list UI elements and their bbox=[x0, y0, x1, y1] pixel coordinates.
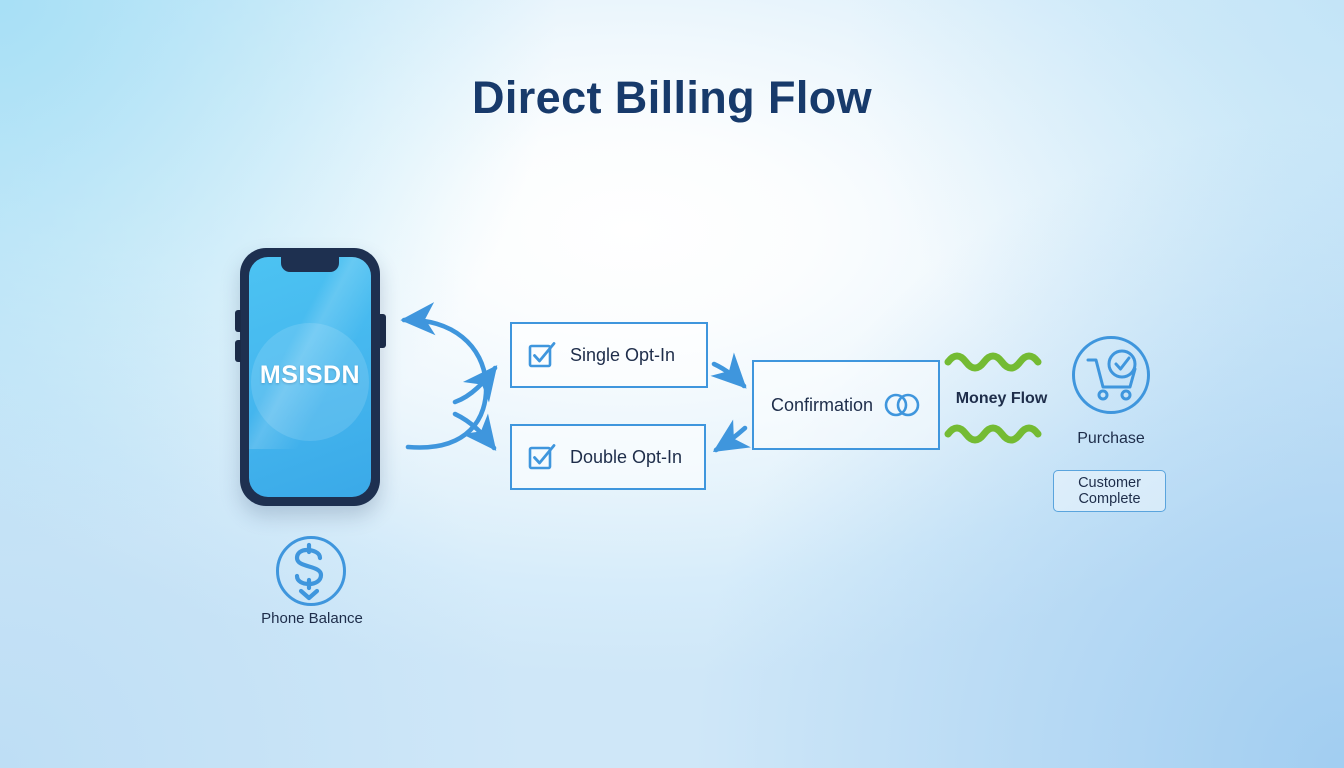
double-optin-box[interactable]: Double Opt-In bbox=[510, 424, 706, 490]
screen-sheen-decoration bbox=[249, 257, 371, 449]
confirmation-to-double-optin bbox=[716, 428, 745, 450]
arc-to-double-optin bbox=[455, 414, 494, 448]
confirmation-label: Confirmation bbox=[771, 395, 873, 416]
customer-complete-line2: Complete bbox=[1078, 491, 1141, 507]
phone-notch bbox=[281, 257, 339, 272]
power-button[interactable] bbox=[380, 314, 386, 348]
checkbox-checked-icon bbox=[528, 443, 556, 471]
page-title: Direct Billing Flow bbox=[0, 72, 1344, 124]
checkbox-checked-icon bbox=[528, 341, 556, 369]
volume-down-button[interactable] bbox=[235, 340, 241, 362]
single-optin-box[interactable]: Single Opt-In bbox=[510, 322, 708, 388]
phone-frame: MSISDN bbox=[240, 248, 380, 506]
dollar-down-circle-icon bbox=[276, 536, 346, 606]
single-optin-to-confirmation bbox=[714, 364, 744, 386]
diagram-canvas: Direct Billing Flow MSISDN bbox=[0, 0, 1344, 768]
arc-to-single-optin bbox=[455, 368, 495, 402]
double-optin-label: Double Opt-In bbox=[570, 447, 682, 468]
shopping-cart-check-circle-icon bbox=[1072, 336, 1150, 414]
phone-loop-arc bbox=[404, 320, 486, 448]
customer-complete-box[interactable]: Customer Complete bbox=[1053, 470, 1166, 512]
msisdn-label: MSISDN bbox=[240, 361, 380, 390]
confirmation-box[interactable]: Confirmation bbox=[752, 360, 940, 450]
linked-rings-icon bbox=[883, 392, 921, 418]
single-optin-label: Single Opt-In bbox=[570, 345, 675, 366]
volume-up-button[interactable] bbox=[235, 310, 241, 332]
phone-device: MSISDN bbox=[232, 248, 388, 510]
money-flow-label: Money Flow bbox=[944, 390, 1059, 408]
customer-complete-line1: Customer bbox=[1078, 475, 1141, 491]
purchase-label: Purchase bbox=[1035, 430, 1187, 448]
phone-balance-label: Phone Balance bbox=[216, 610, 408, 627]
